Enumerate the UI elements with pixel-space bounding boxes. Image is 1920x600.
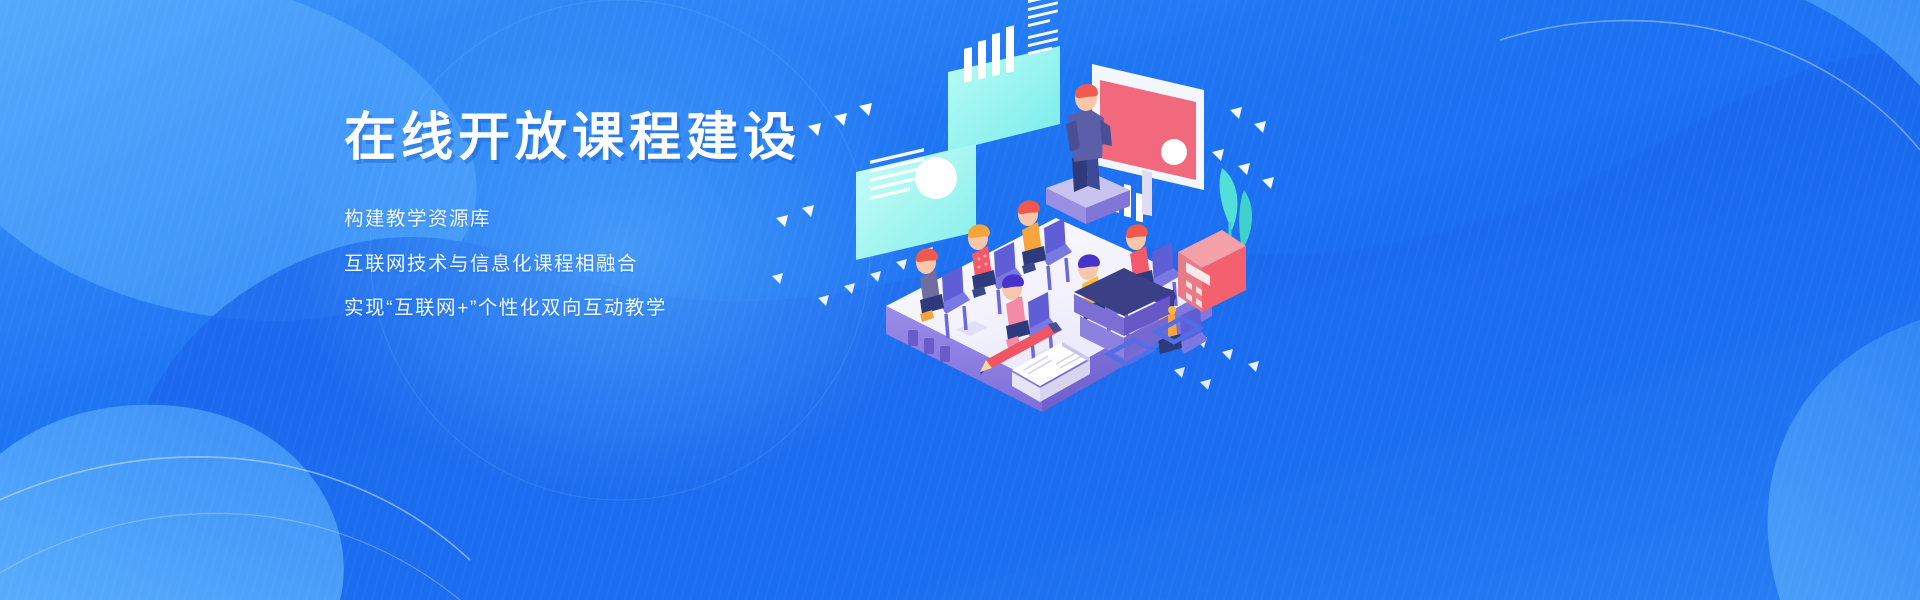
floating-screen-video	[856, 144, 976, 260]
calculator-icon	[1178, 230, 1246, 312]
online-classroom-illustration	[760, 40, 1280, 420]
hero-banner: 在线开放课程建设 构建教学资源库 互联网技术与信息化课程相融合 实现“互联网+”…	[0, 0, 1920, 600]
